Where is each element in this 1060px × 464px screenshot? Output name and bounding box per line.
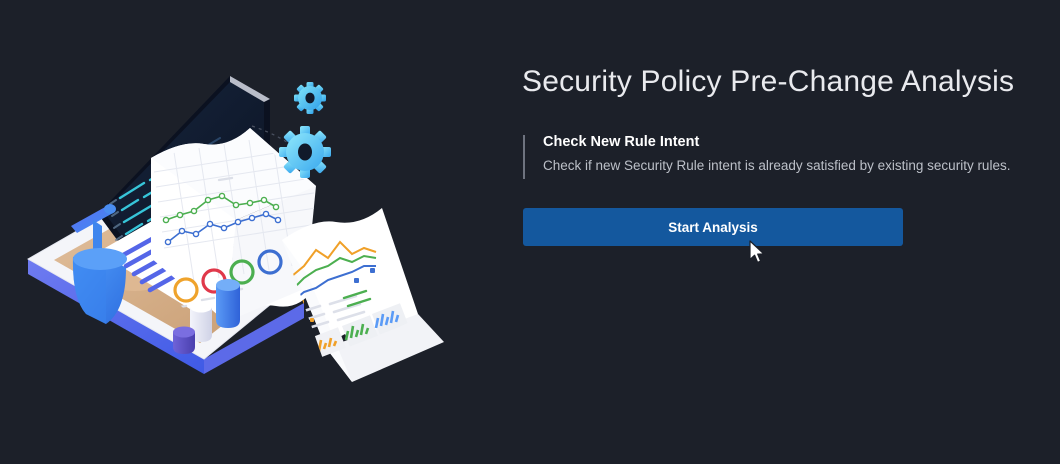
intent-title: Check New Rule Intent bbox=[543, 132, 1022, 153]
gear-large bbox=[279, 126, 331, 178]
intent-description: Check if new Security Rule intent is alr… bbox=[543, 156, 1022, 176]
cylinder-purple bbox=[173, 327, 195, 355]
start-analysis-button[interactable]: Start Analysis bbox=[523, 208, 903, 246]
hero-illustration bbox=[14, 52, 484, 402]
intent-section: Check New Rule Intent Check if new Secur… bbox=[522, 132, 1022, 176]
page-title: Security Policy Pre-Change Analysis bbox=[522, 64, 1022, 100]
report-paper-lower bbox=[282, 208, 444, 382]
intent-accent-bar bbox=[523, 135, 525, 179]
app-root: Security Policy Pre-Change Analysis Chec… bbox=[0, 0, 1060, 464]
content-panel: Security Policy Pre-Change Analysis Chec… bbox=[522, 64, 1022, 176]
cylinder-blue bbox=[216, 279, 240, 328]
gear-small bbox=[294, 82, 326, 114]
